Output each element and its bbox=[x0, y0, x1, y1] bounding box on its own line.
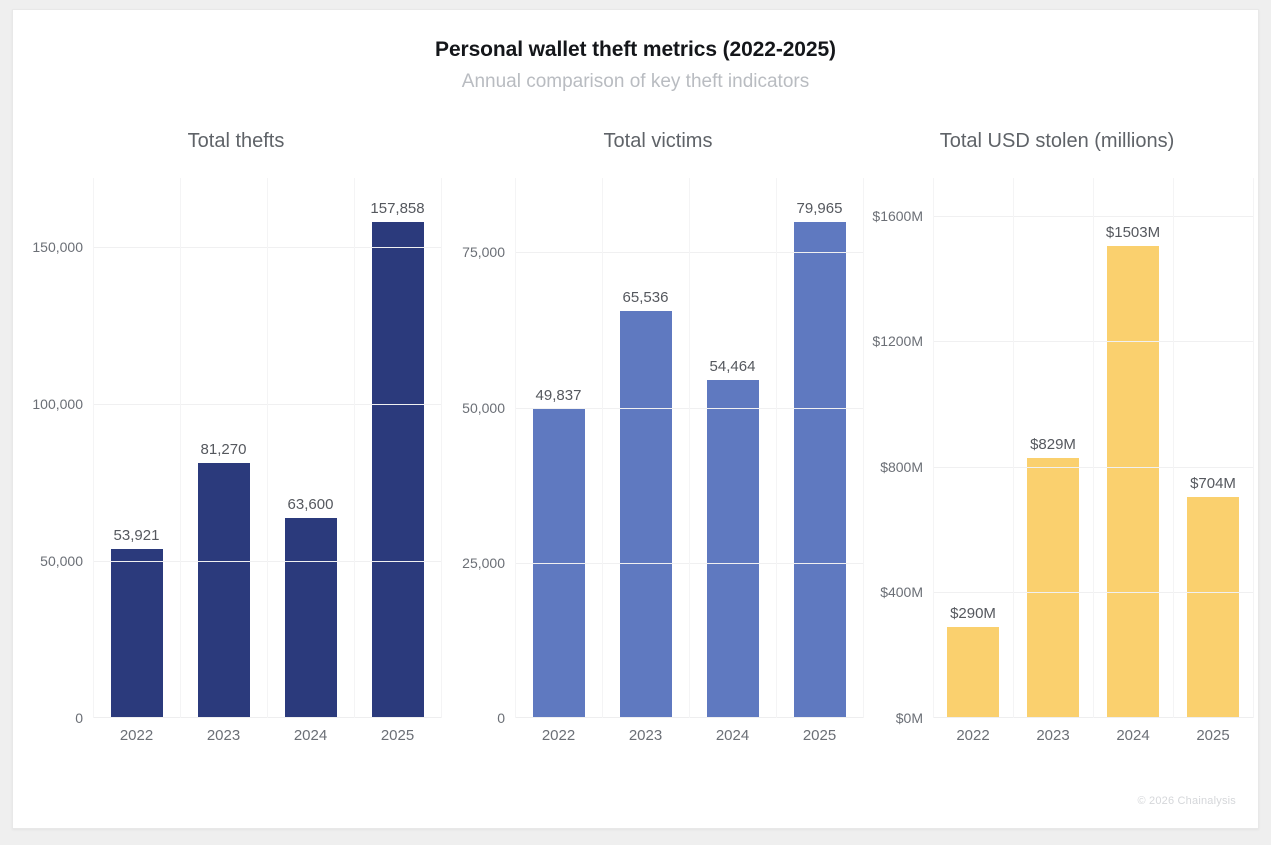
bar[interactable]: $1503M bbox=[1107, 246, 1159, 718]
gridline-vertical bbox=[1013, 178, 1014, 718]
y-axis-tick-label: 75,000 bbox=[462, 244, 505, 260]
y-axis-tick-label: $1200M bbox=[872, 333, 923, 349]
y-axis-tick-label: 50,000 bbox=[40, 553, 83, 569]
y-axis-tick-label: 0 bbox=[497, 710, 505, 726]
gridline-vertical bbox=[776, 178, 777, 718]
gridline-vertical bbox=[93, 178, 94, 718]
bar-slot: 54,4642024 bbox=[689, 178, 776, 718]
bar-value-label: 63,600 bbox=[288, 496, 334, 513]
copyright-notice: © 2026 Chainalysis bbox=[1137, 795, 1236, 807]
bar-value-label: 53,921 bbox=[114, 527, 160, 544]
bar[interactable]: 79,965 bbox=[794, 222, 846, 718]
grid-area: 53,921202281,270202363,6002024157,858202… bbox=[93, 178, 441, 718]
bar-slot: 79,9652025 bbox=[776, 178, 863, 718]
x-axis-tick-label: 2024 bbox=[1116, 727, 1149, 744]
bar-value-label: $704M bbox=[1190, 475, 1236, 492]
bar[interactable]: 54,464 bbox=[707, 380, 759, 718]
gridline-vertical bbox=[354, 178, 355, 718]
bar-slot: 157,8582025 bbox=[354, 178, 441, 718]
panel-title: Total thefts bbox=[31, 128, 441, 154]
grid-area: $290M2022$829M2023$1503M2024$704M2025 bbox=[933, 178, 1253, 718]
chart-panel-total-thefts: Total thefts 050,000100,000150,000 53,92… bbox=[31, 128, 441, 808]
x-axis-tick-label: 2023 bbox=[207, 727, 240, 744]
x-axis-tick-label: 2025 bbox=[803, 727, 836, 744]
bar[interactable]: 157,858 bbox=[372, 222, 424, 718]
bar-slot: 49,8372022 bbox=[515, 178, 602, 718]
plot-area: 050,000100,000150,000 53,921202281,27020… bbox=[31, 178, 441, 718]
bar[interactable]: $829M bbox=[1027, 458, 1079, 718]
bar-slot: 53,9212022 bbox=[93, 178, 180, 718]
bar-slot: $704M2025 bbox=[1173, 178, 1253, 718]
gridline-vertical bbox=[515, 178, 516, 718]
bar-value-label: 81,270 bbox=[201, 441, 247, 458]
x-axis-tick-label: 2024 bbox=[294, 727, 327, 744]
bar-value-label: 79,965 bbox=[797, 200, 843, 217]
bar[interactable]: 81,270 bbox=[198, 463, 250, 718]
plot-area: $0M$400M$800M$1200M$1600M $290M2022$829M… bbox=[861, 178, 1253, 718]
bar-value-label: 49,837 bbox=[536, 387, 582, 404]
x-axis-tick-label: 2024 bbox=[716, 727, 749, 744]
x-axis-tick-label: 2025 bbox=[381, 727, 414, 744]
y-axis: $0M$400M$800M$1200M$1600M bbox=[861, 178, 933, 718]
x-axis-tick-label: 2023 bbox=[1036, 727, 1069, 744]
grid-area: 49,837202265,536202354,464202479,9652025 bbox=[515, 178, 863, 718]
bar[interactable]: 63,600 bbox=[285, 518, 337, 718]
bar-value-label: 54,464 bbox=[710, 358, 756, 375]
y-axis: 050,000100,000150,000 bbox=[31, 178, 93, 718]
page-title: Personal wallet theft metrics (2022-2025… bbox=[13, 36, 1258, 64]
gridline-vertical bbox=[441, 178, 442, 718]
y-axis-tick-label: $400M bbox=[880, 584, 923, 600]
gridline-vertical bbox=[933, 178, 934, 718]
bar[interactable]: 53,921 bbox=[111, 549, 163, 718]
x-axis-tick-label: 2023 bbox=[629, 727, 662, 744]
bar-value-label: $1503M bbox=[1106, 224, 1160, 241]
gridline-vertical bbox=[689, 178, 690, 718]
plot-area: 025,00050,00075,000 49,837202265,5362023… bbox=[453, 178, 863, 718]
x-axis-tick-label: 2022 bbox=[542, 727, 575, 744]
bar-value-label: 65,536 bbox=[623, 289, 669, 306]
x-axis-tick-label: 2022 bbox=[956, 727, 989, 744]
y-axis-tick-label: $1600M bbox=[872, 208, 923, 224]
y-axis-tick-label: $800M bbox=[880, 459, 923, 475]
panel-title: Total victims bbox=[453, 128, 863, 154]
bar-slot: 65,5362023 bbox=[602, 178, 689, 718]
chart-card: Personal wallet theft metrics (2022-2025… bbox=[12, 9, 1259, 829]
gridline-vertical bbox=[180, 178, 181, 718]
bar-value-label: $829M bbox=[1030, 436, 1076, 453]
bar-slot: 63,6002024 bbox=[267, 178, 354, 718]
gridline-vertical bbox=[1253, 178, 1254, 718]
y-axis-tick-label: 25,000 bbox=[462, 555, 505, 571]
y-axis-tick-label: $0M bbox=[896, 710, 923, 726]
page-subtitle: Annual comparison of key theft indicator… bbox=[13, 68, 1258, 96]
chart-panels: Total thefts 050,000100,000150,000 53,92… bbox=[13, 128, 1260, 808]
y-axis: 025,00050,00075,000 bbox=[453, 178, 515, 718]
chart-panel-total-victims: Total victims 025,00050,00075,000 49,837… bbox=[453, 128, 863, 808]
x-axis-tick-label: 2025 bbox=[1196, 727, 1229, 744]
y-axis-tick-label: 150,000 bbox=[32, 239, 83, 255]
bar-value-label: $290M bbox=[950, 605, 996, 622]
gridline-vertical bbox=[1093, 178, 1094, 718]
chart-panel-total-usd-stolen: Total USD stolen (millions) $0M$400M$800… bbox=[861, 128, 1253, 808]
bar-slot: $290M2022 bbox=[933, 178, 1013, 718]
gridline-vertical bbox=[1173, 178, 1174, 718]
bar-value-label: 157,858 bbox=[370, 200, 424, 217]
bar-slot: $1503M2024 bbox=[1093, 178, 1173, 718]
panel-title: Total USD stolen (millions) bbox=[861, 128, 1253, 154]
bar[interactable]: $704M bbox=[1187, 497, 1239, 718]
x-axis-tick-label: 2022 bbox=[120, 727, 153, 744]
bar[interactable]: 65,536 bbox=[620, 311, 672, 718]
chart-header: Personal wallet theft metrics (2022-2025… bbox=[13, 36, 1258, 96]
y-axis-tick-label: 0 bbox=[75, 710, 83, 726]
y-axis-tick-label: 100,000 bbox=[32, 396, 83, 412]
bar[interactable]: $290M bbox=[947, 627, 999, 718]
gridline-vertical bbox=[267, 178, 268, 718]
y-axis-tick-label: 50,000 bbox=[462, 400, 505, 416]
bar-slot: $829M2023 bbox=[1013, 178, 1093, 718]
gridline-vertical bbox=[602, 178, 603, 718]
bar-slot: 81,2702023 bbox=[180, 178, 267, 718]
